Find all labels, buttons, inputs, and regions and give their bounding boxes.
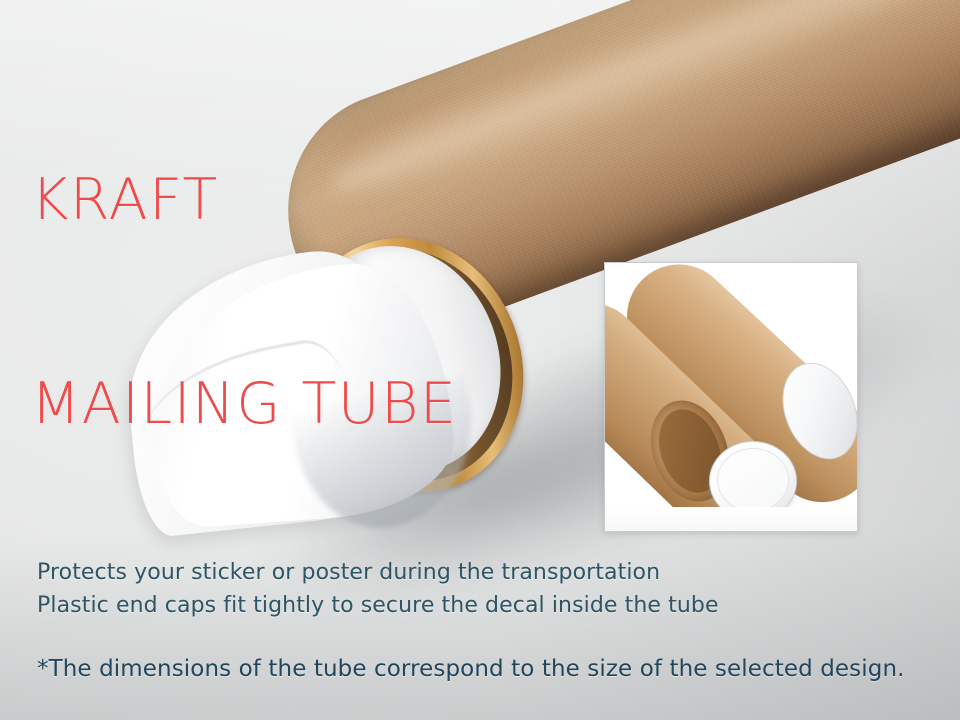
page-title: KRAFT MAILING TUBE [31, 30, 457, 574]
inset-product-photo [604, 262, 858, 532]
title-line-1: KRAFT [31, 166, 457, 234]
feature-line-1: Protects your sticker or poster during t… [37, 556, 719, 589]
title-line-2: MAILING TUBE [31, 370, 457, 438]
promo-banner: KRAFT MAILING TUBE Protects your sticker… [0, 0, 960, 720]
inset-canvas [605, 263, 857, 531]
feature-line-2: Plastic end caps fit tightly to secure t… [37, 589, 719, 622]
feature-list: Protects your sticker or poster during t… [37, 556, 719, 622]
inset-floor [605, 507, 857, 531]
inset-loose-cap-inner-ring [717, 448, 789, 512]
footnote-text: *The dimensions of the tube correspond t… [37, 654, 905, 684]
